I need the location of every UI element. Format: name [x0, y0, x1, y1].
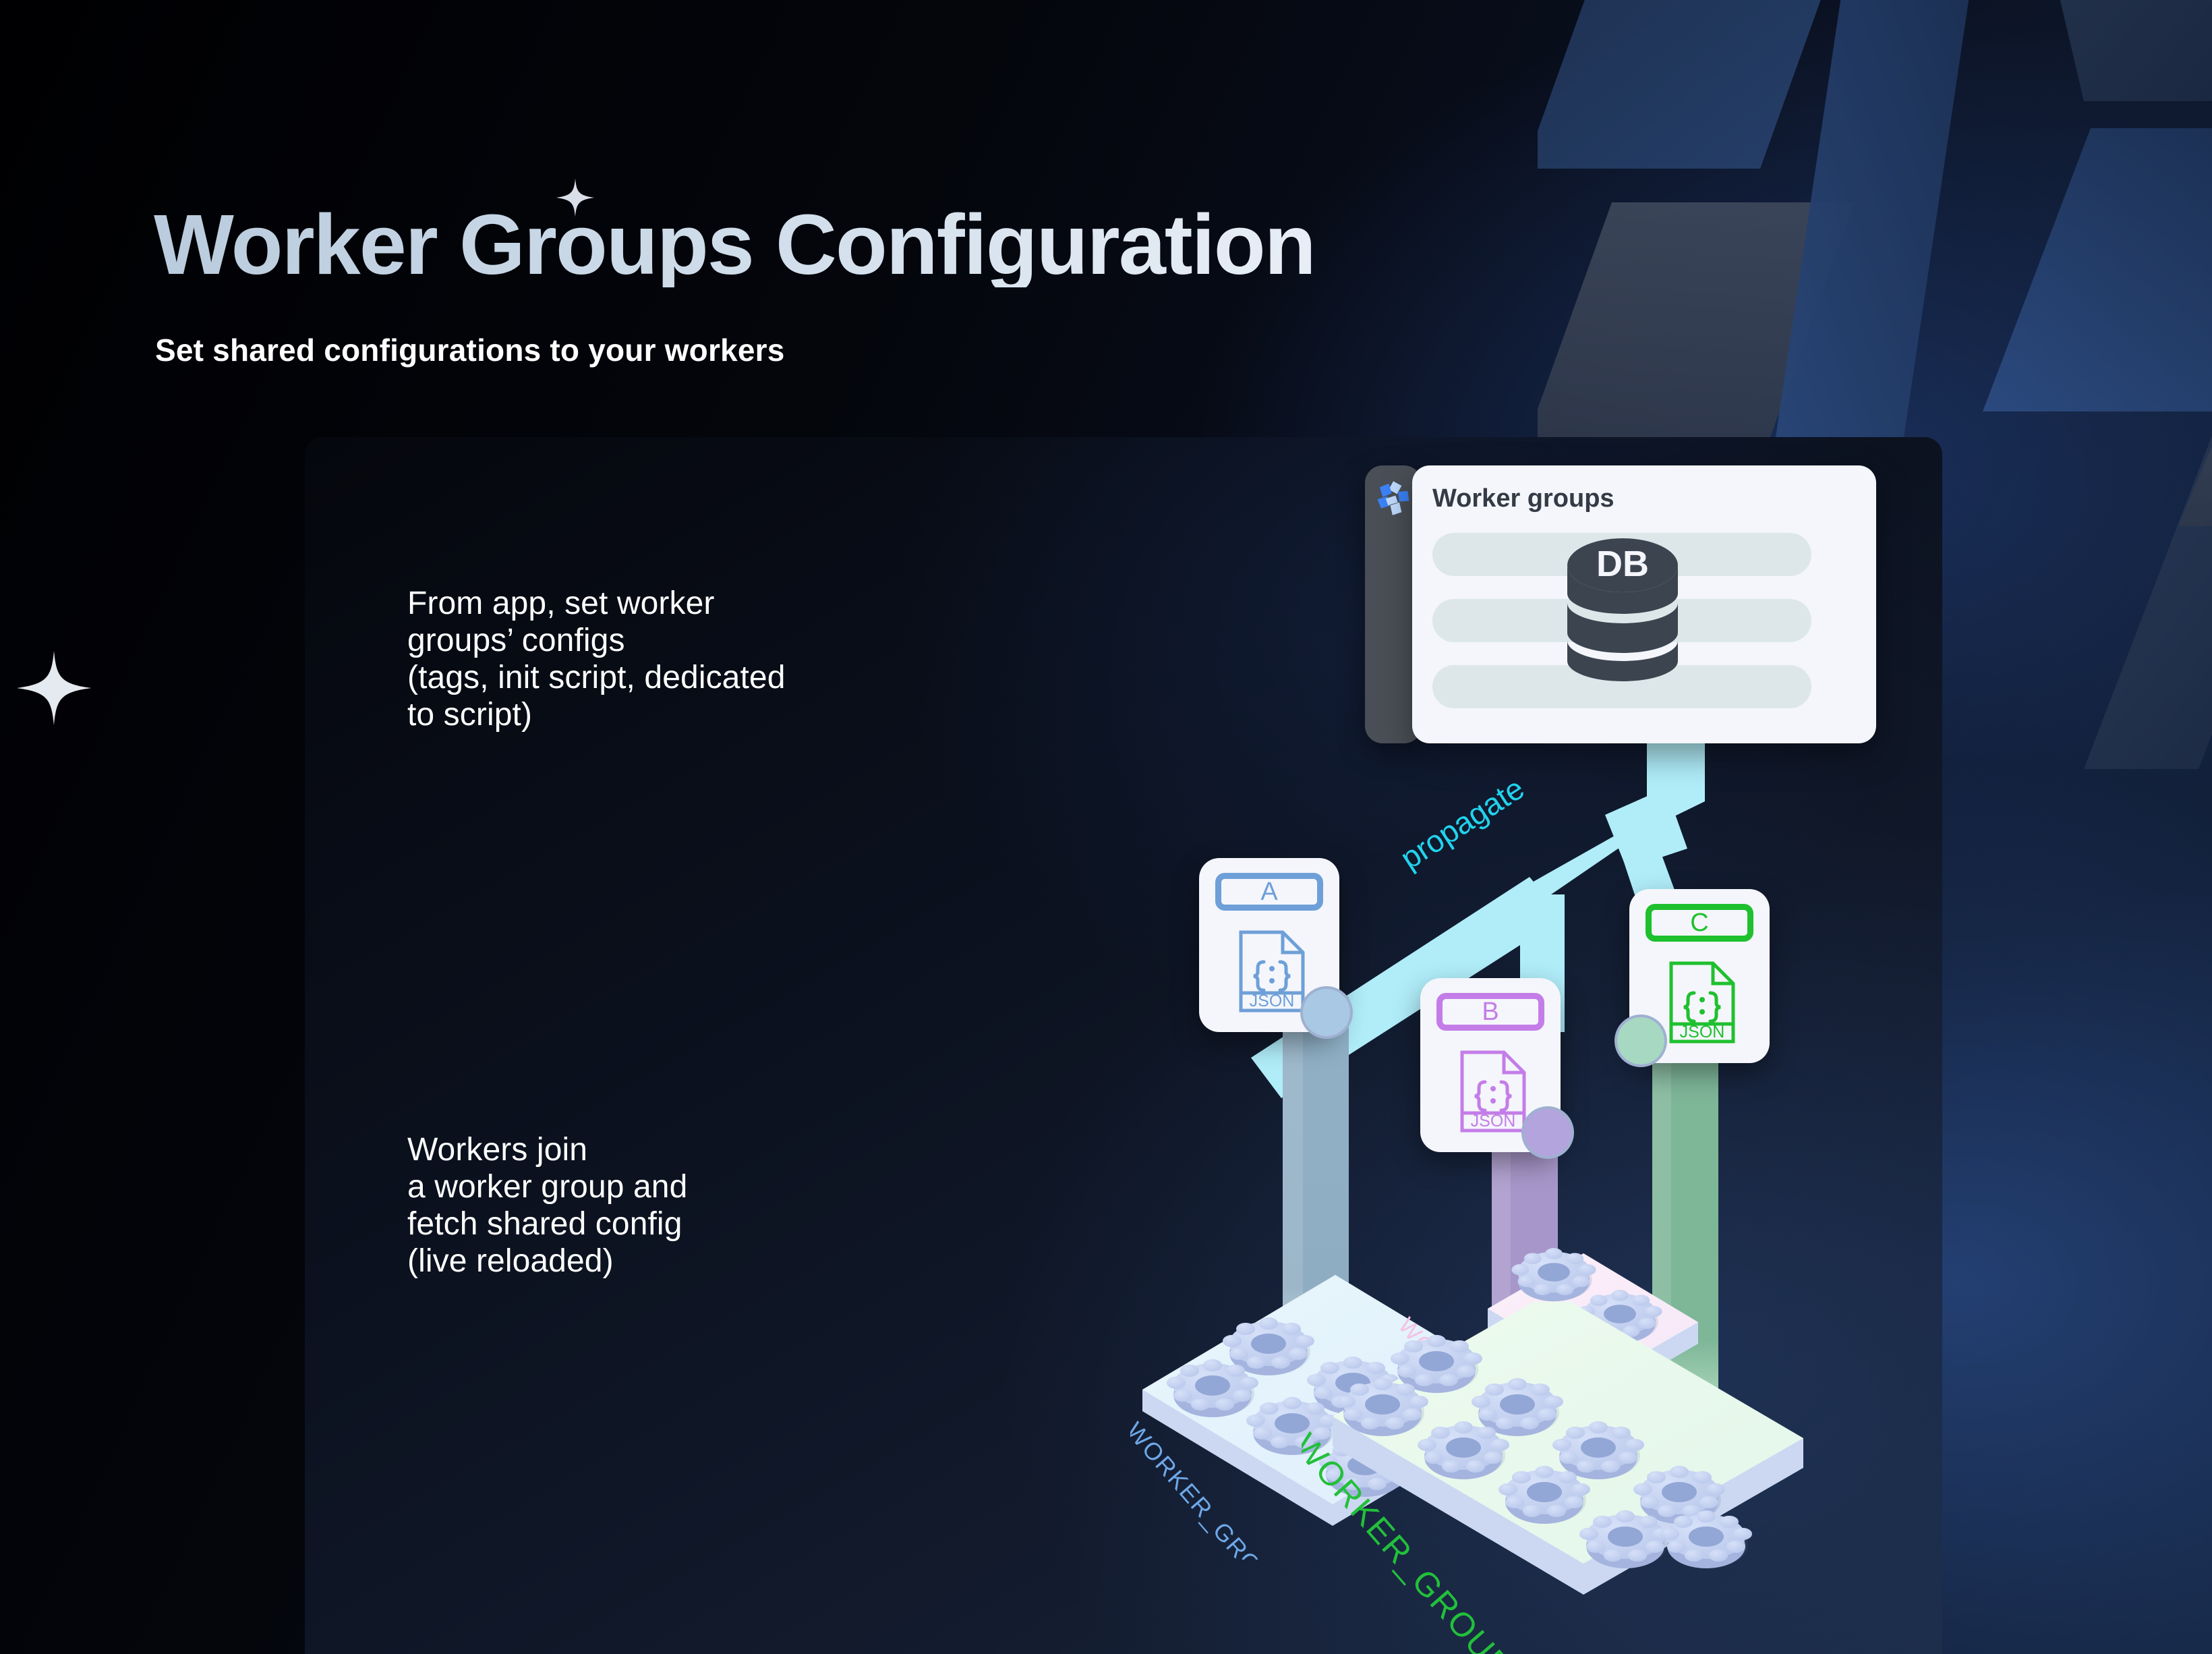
worker-groups-heading: Worker groups	[1432, 484, 1614, 513]
json-file-icon: JSON	[1459, 1050, 1527, 1133]
slide-canvas: Worker Groups Configuration Set shared c…	[0, 0, 2212, 1654]
page-subtitle: Set shared configurations to your worker…	[155, 332, 785, 368]
group-badge-c: C	[1646, 904, 1753, 942]
json-label: JSON	[1471, 1112, 1516, 1131]
windmill-logo-icon	[1374, 479, 1412, 517]
json-file-icon: JSON	[1238, 930, 1306, 1013]
db-icon-label: DB	[1596, 544, 1649, 584]
group-badge-a: A	[1215, 873, 1323, 911]
json-label: JSON	[1680, 1023, 1725, 1042]
worker-group-card-a[interactable]: A JSON	[1199, 858, 1339, 1032]
group-a-connector-knob	[1300, 986, 1353, 1039]
group-badge-b: B	[1436, 993, 1544, 1031]
platform-c: WORKER_GROUP=C	[1302, 1302, 1909, 1654]
worker-group-card-c[interactable]: C JSON	[1629, 889, 1770, 1063]
worker-groups-panel[interactable]: Worker groups DB	[1365, 465, 1876, 743]
sparkle-icon	[13, 648, 94, 729]
json-file-icon: JSON	[1668, 961, 1736, 1044]
group-b-connector-knob	[1521, 1106, 1574, 1159]
database-icon: DB	[1566, 538, 1679, 688]
worker-group-card-b[interactable]: B JSON	[1420, 978, 1561, 1152]
page-title: Worker Groups Configuration	[154, 202, 1315, 287]
group-c-connector-knob	[1614, 1015, 1667, 1067]
json-label: JSON	[1250, 992, 1295, 1010]
from-app-callout: From app, set worker groups’ configs (ta…	[407, 586, 786, 734]
workers-join-callout: Workers join a worker group and fetch sh…	[407, 1132, 687, 1280]
